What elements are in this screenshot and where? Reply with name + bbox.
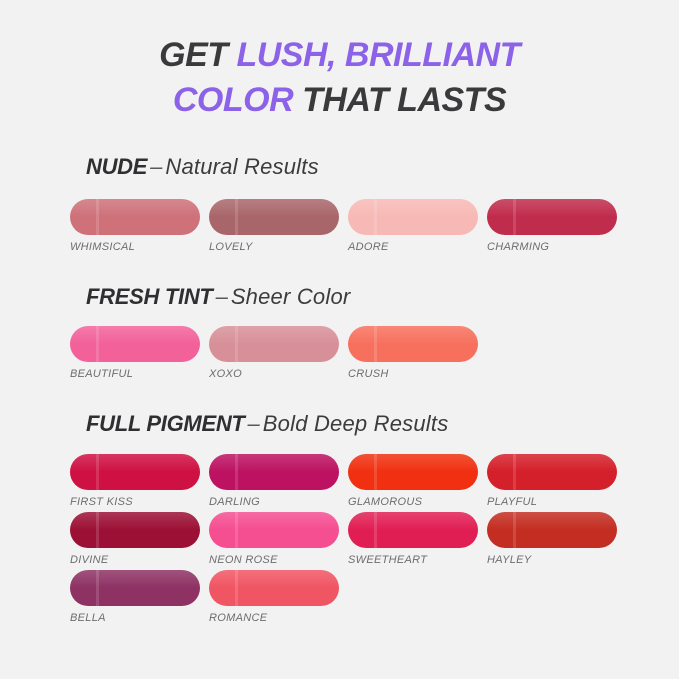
swatch-crush[interactable] (348, 326, 478, 362)
swatch-label-first-kiss: FIRST KISS (70, 496, 206, 508)
section-fresh-tint-heading: FRESH TINT–Sheer Color (86, 286, 350, 308)
swatch-darling[interactable] (209, 454, 339, 490)
page-title: GET LUSH, BRILLIANT COLOR THAT LASTS (0, 0, 679, 123)
swatch-row-full-pigment-3: BELLA ROMANCE (70, 570, 348, 624)
swatch-cell-xoxo[interactable]: XOXO (209, 326, 345, 380)
swatch-label-lovely: LOVELY (209, 241, 345, 253)
swatch-row-full-pigment-2: DIVINE NEON ROSE SWEETHEART HAYLEY (70, 512, 626, 566)
swatch-cell-playful[interactable]: PLAYFUL (487, 454, 623, 508)
headline-line-2: COLOR THAT LASTS (0, 78, 679, 123)
swatch-label-neon-rose: NEON ROSE (209, 554, 345, 566)
section-full-pigment-heading: FULL PIGMENT–Bold Deep Results (86, 413, 448, 435)
section-full-pigment-title: FULL PIGMENT (86, 411, 245, 436)
section-nude: NUDE–Natural Results (86, 156, 319, 178)
section-full-pigment: FULL PIGMENT–Bold Deep Results (86, 413, 448, 435)
swatch-label-xoxo: XOXO (209, 368, 345, 380)
swatch-cell-sweetheart[interactable]: SWEETHEART (348, 512, 484, 566)
swatch-label-romance: ROMANCE (209, 612, 345, 624)
section-nude-title: NUDE (86, 154, 147, 179)
swatch-cell-first-kiss[interactable]: FIRST KISS (70, 454, 206, 508)
swatch-cell-divine[interactable]: DIVINE (70, 512, 206, 566)
headline-accent-color: COLOR (173, 81, 293, 119)
swatch-cell-darling[interactable]: DARLING (209, 454, 345, 508)
swatch-cell-hayley[interactable]: HAYLEY (487, 512, 623, 566)
swatch-cell-romance[interactable]: ROMANCE (209, 570, 345, 624)
swatch-whimsical[interactable] (70, 199, 200, 235)
swatch-cell-adore[interactable]: ADORE (348, 199, 484, 253)
swatch-label-divine: DIVINE (70, 554, 206, 566)
section-nude-subtitle: Natural Results (165, 154, 318, 179)
swatch-label-beautiful: BEAUTIFUL (70, 368, 206, 380)
headline-line-1: GET LUSH, BRILLIANT (0, 33, 679, 78)
swatch-sweetheart[interactable] (348, 512, 478, 548)
swatch-adore[interactable] (348, 199, 478, 235)
swatch-neon-rose[interactable] (209, 512, 339, 548)
swatch-cell-neon-rose[interactable]: NEON ROSE (209, 512, 345, 566)
swatch-divine[interactable] (70, 512, 200, 548)
swatch-cell-beautiful[interactable]: BEAUTIFUL (70, 326, 206, 380)
swatch-cell-charming[interactable]: CHARMING (487, 199, 623, 253)
section-fresh-tint-subtitle: Sheer Color (231, 284, 351, 309)
swatch-first-kiss[interactable] (70, 454, 200, 490)
swatch-cell-lovely[interactable]: LOVELY (209, 199, 345, 253)
swatch-label-bella: BELLA (70, 612, 206, 624)
swatch-playful[interactable] (487, 454, 617, 490)
swatch-label-hayley: HAYLEY (487, 554, 623, 566)
swatch-label-darling: DARLING (209, 496, 345, 508)
headline-accent-lush-brilliant: LUSH, BRILLIANT (236, 36, 519, 74)
swatch-label-crush: CRUSH (348, 368, 484, 380)
swatch-hayley[interactable] (487, 512, 617, 548)
swatch-row-fresh-tint-1: BEAUTIFUL XOXO CRUSH (70, 326, 487, 380)
swatch-cell-bella[interactable]: BELLA (70, 570, 206, 624)
swatch-charming[interactable] (487, 199, 617, 235)
lipstick-shade-chart: GET LUSH, BRILLIANT COLOR THAT LASTS NUD… (0, 0, 679, 679)
swatch-cell-glamorous[interactable]: GLAMOROUS (348, 454, 484, 508)
headline-text-that-lasts: THAT LASTS (293, 81, 506, 119)
swatch-row-nude-1: WHIMSICAL LOVELY ADORE CHARMING (70, 199, 626, 253)
section-nude-heading: NUDE–Natural Results (86, 156, 319, 178)
swatch-label-whimsical: WHIMSICAL (70, 241, 206, 253)
swatch-bella[interactable] (70, 570, 200, 606)
swatch-row-full-pigment-1: FIRST KISS DARLING GLAMOROUS PLAYFUL (70, 454, 626, 508)
section-full-pigment-dash: – (245, 411, 263, 436)
section-nude-dash: – (147, 154, 165, 179)
swatch-romance[interactable] (209, 570, 339, 606)
section-full-pigment-subtitle: Bold Deep Results (263, 411, 449, 436)
swatch-lovely[interactable] (209, 199, 339, 235)
swatch-label-playful: PLAYFUL (487, 496, 623, 508)
swatch-label-adore: ADORE (348, 241, 484, 253)
swatch-cell-whimsical[interactable]: WHIMSICAL (70, 199, 206, 253)
swatch-label-sweetheart: SWEETHEART (348, 554, 484, 566)
swatch-beautiful[interactable] (70, 326, 200, 362)
swatch-xoxo[interactable] (209, 326, 339, 362)
swatch-glamorous[interactable] (348, 454, 478, 490)
swatch-label-glamorous: GLAMOROUS (348, 496, 484, 508)
swatch-label-charming: CHARMING (487, 241, 623, 253)
headline-text-get: GET (159, 36, 236, 74)
swatch-cell-crush[interactable]: CRUSH (348, 326, 484, 380)
section-fresh-tint-dash: – (213, 284, 231, 309)
section-fresh-tint: FRESH TINT–Sheer Color (86, 286, 350, 308)
section-fresh-tint-title: FRESH TINT (86, 284, 213, 309)
